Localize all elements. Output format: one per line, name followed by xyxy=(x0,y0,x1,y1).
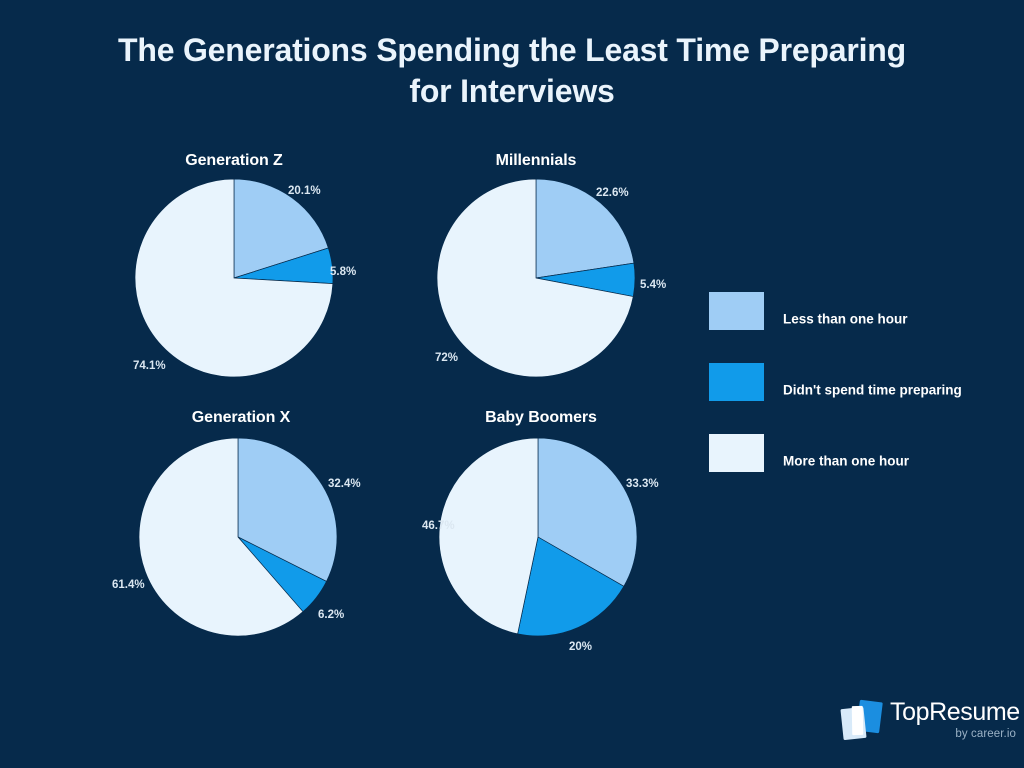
pie-graphic-generation-z xyxy=(134,178,334,378)
infographic-canvas: The Generations Spending the Least Time … xyxy=(0,0,1024,768)
pie-svg-millennials xyxy=(436,178,636,378)
legend-label-didnt-spend-time: Didn't spend time preparing xyxy=(783,382,983,399)
logo-wordmark: TopResume xyxy=(890,698,1020,727)
page-title: The Generations Spending the Least Time … xyxy=(112,30,912,112)
chart-title-generation-z: Generation Z xyxy=(110,152,358,170)
chart-title-baby-boomers: Baby Boomers xyxy=(412,409,670,427)
legend-swatch-more-than-one-hour xyxy=(709,434,764,472)
slice-label-generation-z-more-than-one-hour: 74.1% xyxy=(133,360,166,372)
pie-svg-baby-boomers xyxy=(438,437,638,637)
slice-label-generation-x-less-than-one-hour: 32.4% xyxy=(328,478,361,490)
legend-swatch-less-than-one-hour xyxy=(709,292,764,330)
slice-label-baby-boomers-didnt-spend-time: 20% xyxy=(569,641,592,653)
pie-graphic-millennials xyxy=(436,178,636,378)
slice-label-baby-boomers-less-than-one-hour: 33.3% xyxy=(626,478,659,490)
pie-graphic-baby-boomers xyxy=(438,437,638,637)
pie-graphic-generation-x xyxy=(138,437,338,637)
pie-svg-generation-z xyxy=(134,178,334,378)
pie-chart-baby-boomers: Baby Boomers 33.3% 20% 46.7% xyxy=(412,409,670,657)
slice-label-baby-boomers-more-than-one-hour: 46.7% xyxy=(422,520,455,532)
pie-chart-millennials: Millennials 22.6% 5.4% 72% xyxy=(412,152,660,392)
legend: Less than one hour Didn't spend time pre… xyxy=(709,292,1009,489)
legend-item-less-than-one-hour: Less than one hour xyxy=(709,292,1009,347)
logo-tagline: by career.io xyxy=(890,728,1016,740)
pie-slice xyxy=(439,438,538,634)
slice-label-generation-x-didnt-spend-time: 6.2% xyxy=(318,609,344,621)
slice-label-millennials-more-than-one-hour: 72% xyxy=(435,352,458,364)
pie-chart-generation-x: Generation X 32.4% 6.2% 61.4% xyxy=(112,409,370,657)
slice-label-generation-x-more-than-one-hour: 61.4% xyxy=(112,579,145,591)
legend-swatch-didnt-spend-time xyxy=(709,363,764,401)
brand-logo: TopResume by career.io xyxy=(838,697,1016,752)
chart-title-millennials: Millennials xyxy=(412,152,660,170)
slice-label-millennials-didnt-spend-time: 5.4% xyxy=(640,279,666,291)
pie-svg-generation-x xyxy=(138,437,338,637)
slice-label-millennials-less-than-one-hour: 22.6% xyxy=(596,187,629,199)
document-pages-icon xyxy=(838,699,886,743)
slice-label-generation-z-didnt-spend-time: 5.8% xyxy=(330,266,356,278)
legend-item-didnt-spend-time: Didn't spend time preparing xyxy=(709,363,1009,418)
slice-label-generation-z-less-than-one-hour: 20.1% xyxy=(288,185,321,197)
pie-chart-generation-z: Generation Z 20.1% 5.8% 74.1% xyxy=(110,152,358,392)
legend-item-more-than-one-hour: More than one hour xyxy=(709,434,1009,489)
legend-label-more-than-one-hour: More than one hour xyxy=(783,453,983,470)
chart-title-generation-x: Generation X xyxy=(112,409,370,427)
legend-label-less-than-one-hour: Less than one hour xyxy=(783,311,983,328)
